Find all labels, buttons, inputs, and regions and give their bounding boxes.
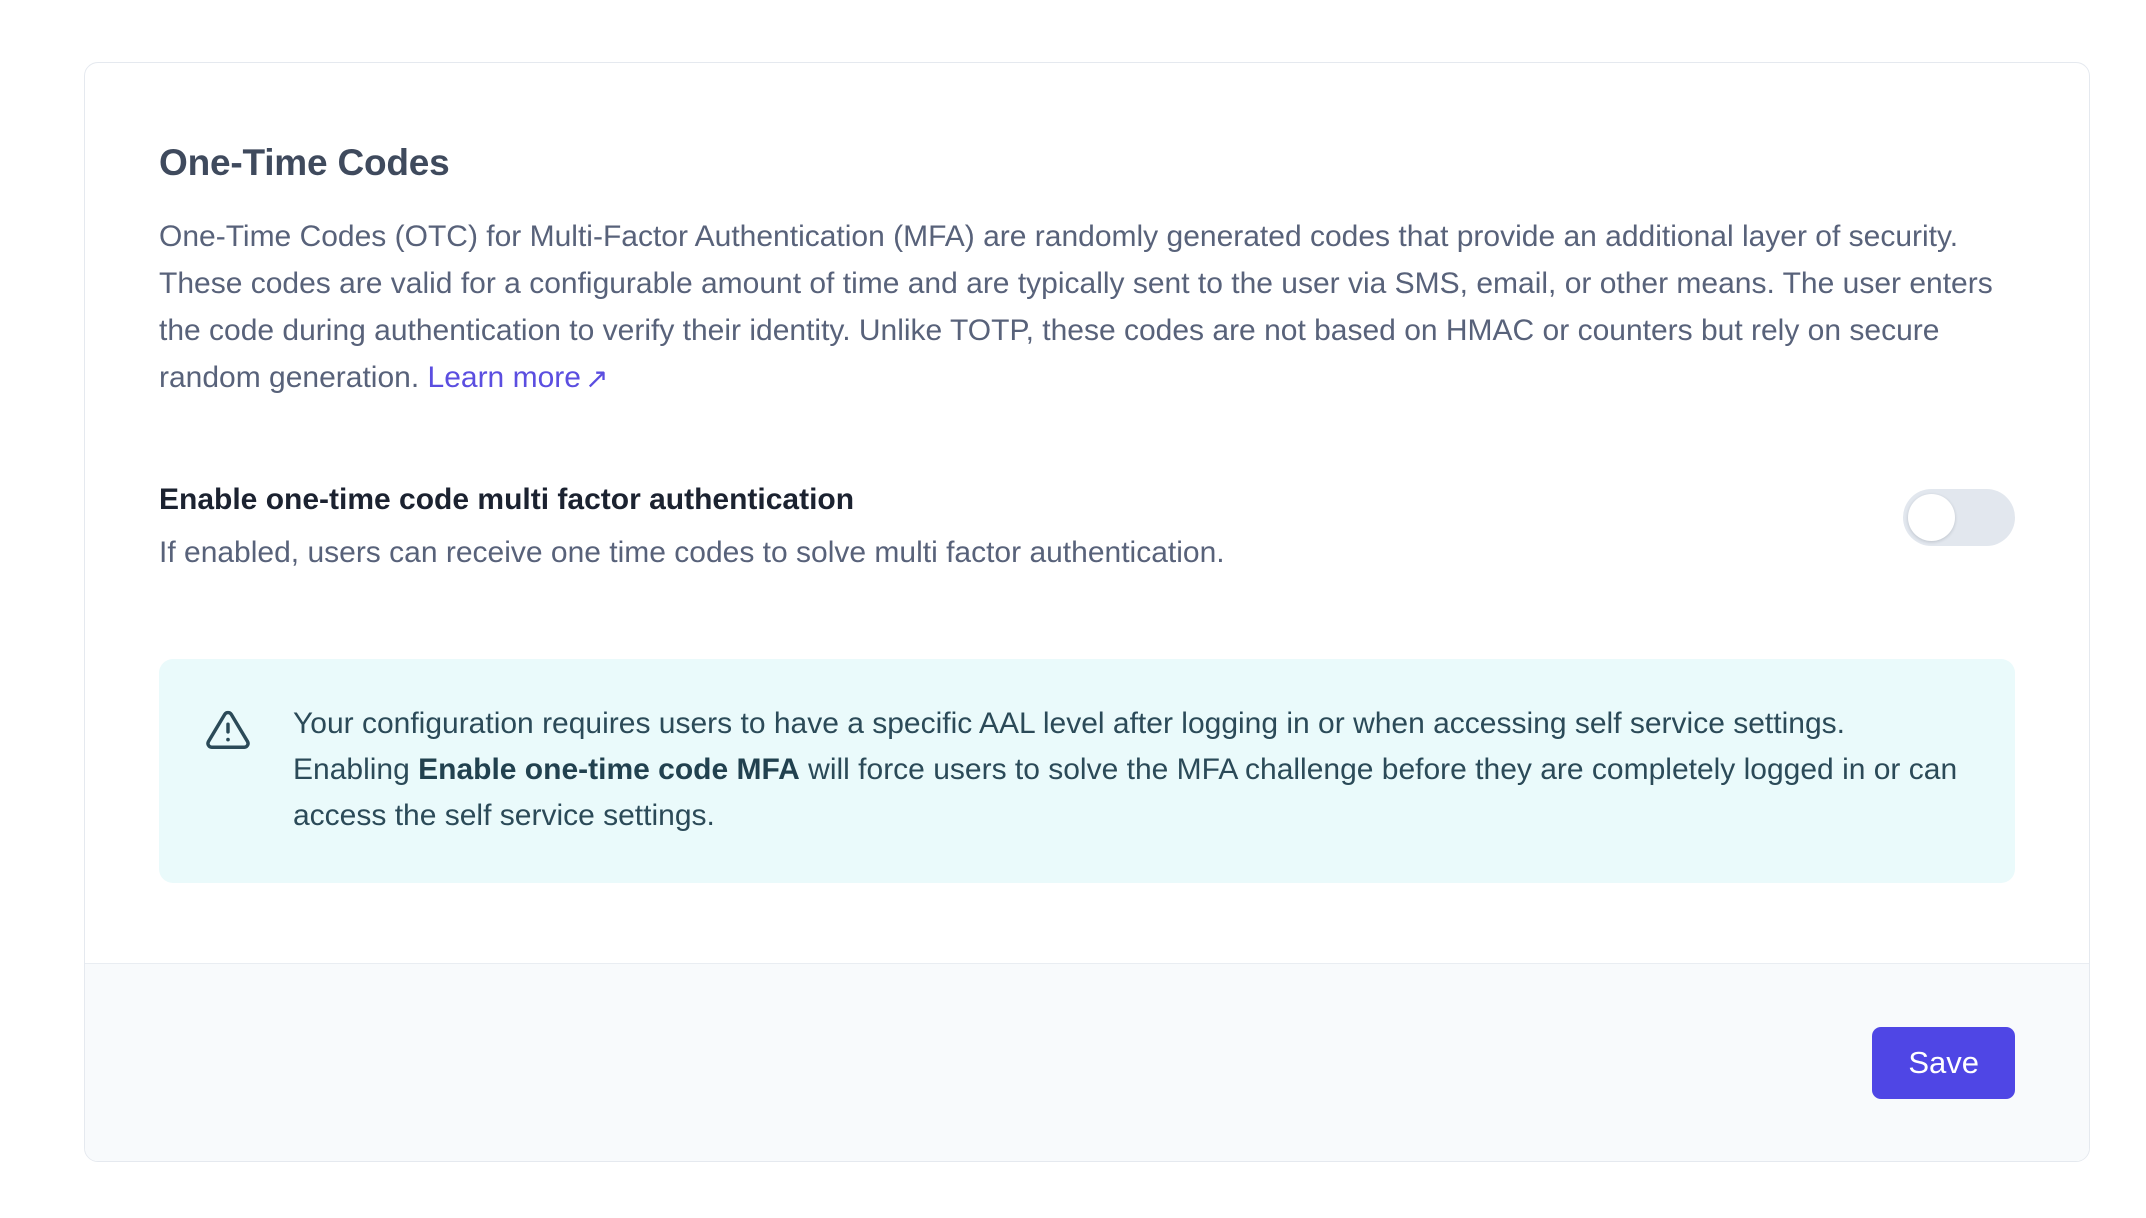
card-body: One-Time Codes One-Time Codes (OTC) for … [85, 63, 2089, 963]
page-root: One-Time Codes One-Time Codes (OTC) for … [0, 0, 2146, 1218]
enable-otc-mfa-toggle[interactable] [1903, 489, 2015, 546]
learn-more-link[interactable]: Learn more↗ [428, 361, 609, 394]
page-title: One-Time Codes [159, 141, 2015, 185]
callout-text: Your configuration requires users to hav… [293, 701, 1969, 839]
callout-text-bold: Enable one-time code MFA [418, 753, 800, 786]
warning-triangle-icon [205, 707, 251, 753]
setting-label: Enable one-time code multi factor authen… [159, 481, 1863, 519]
warning-callout: Your configuration requires users to hav… [159, 659, 2015, 883]
one-time-codes-card: One-Time Codes One-Time Codes (OTC) for … [84, 62, 2090, 1162]
external-link-arrow-icon: ↗ [585, 365, 608, 393]
section-description: One-Time Codes (OTC) for Multi-Factor Au… [159, 213, 2015, 401]
card-footer: Save [85, 963, 2089, 1161]
setting-help-text: If enabled, users can receive one time c… [159, 533, 1863, 574]
setting-row: Enable one-time code multi factor authen… [159, 479, 2015, 573]
save-button[interactable]: Save [1872, 1027, 2015, 1099]
learn-more-label: Learn more [428, 361, 581, 394]
toggle-knob [1908, 494, 1955, 541]
setting-texts: Enable one-time code multi factor authen… [159, 479, 1863, 573]
